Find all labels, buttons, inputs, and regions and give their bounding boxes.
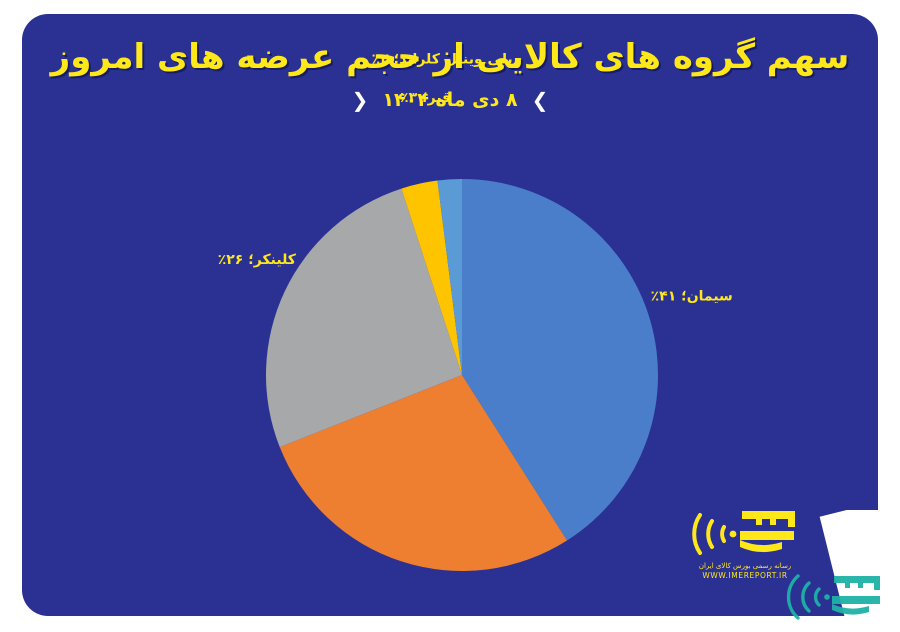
pie-slice-label: کلینکر؛ ۲۶٪: [218, 252, 297, 268]
watermark-logo: [776, 566, 894, 628]
pie-slice-label: پلی وینیل کلراید؛ ۲٪: [372, 52, 513, 68]
infographic-card: سهم گروه های کالایی از حجم عرضه های امرو…: [22, 14, 878, 616]
screenshot-root: سهم گروه های کالایی از حجم عرضه های امرو…: [0, 0, 900, 630]
pie-slice-label: قیر؛ ۳٪: [400, 90, 451, 106]
logo-mark-icon: [670, 503, 820, 561]
pie-slice-label: سیمان؛ ۴۱٪: [651, 288, 733, 304]
